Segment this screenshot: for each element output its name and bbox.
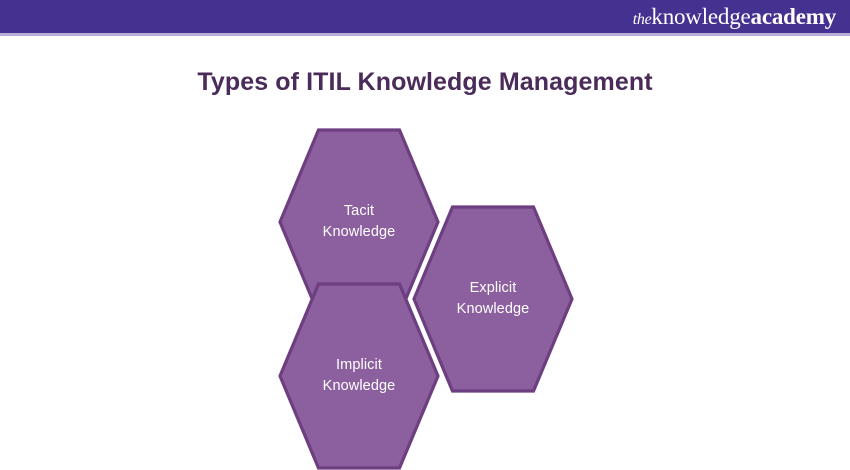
logo-word-academy: academy: [751, 4, 836, 29]
hexagon-shape-icon: [278, 282, 440, 470]
hexagon-diagram: Tacit Knowledge Explicit Knowledge Impli…: [0, 120, 850, 440]
logo-word-knowledge: knowledge: [651, 4, 750, 29]
hexagon-node-implicit[interactable]: Implicit Knowledge: [278, 282, 440, 470]
logo-word-the: the: [633, 11, 652, 28]
the-knowledge-academy-logo: theknowledgeacademy: [633, 5, 836, 28]
page-title: Types of ITIL Knowledge Management: [0, 68, 850, 97]
header-divider: [0, 33, 850, 36]
header-bar: theknowledgeacademy: [0, 0, 850, 33]
